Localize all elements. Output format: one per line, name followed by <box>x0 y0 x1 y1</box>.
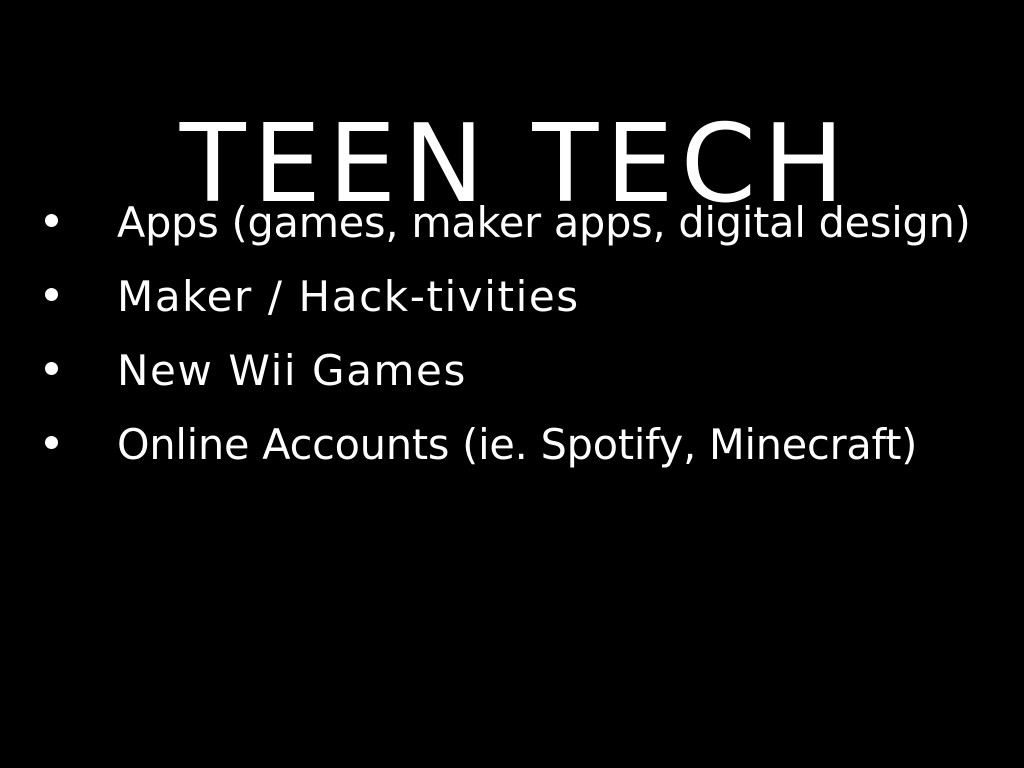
bullet-dot-icon <box>45 436 58 449</box>
list-item-label: New Wii Games <box>117 336 467 410</box>
list-item-label: Apps (games, maker apps, digital design) <box>117 188 971 262</box>
bullet-list: Apps (games, maker apps, digital design)… <box>0 188 1024 484</box>
presentation-slide: TEEN TECH Apps (games, maker apps, digit… <box>0 0 1024 768</box>
bullet-dot-icon <box>45 362 58 375</box>
bullet-dot-icon <box>45 288 58 301</box>
list-item: New Wii Games <box>0 336 1024 410</box>
list-item: Online Accounts (ie. Spotify, Minecraft) <box>0 410 1024 484</box>
list-item-label: Maker / Hack-tivities <box>117 262 580 336</box>
bullet-dot-icon <box>45 214 58 227</box>
list-item: Apps (games, maker apps, digital design) <box>0 188 1024 262</box>
list-item: Maker / Hack-tivities <box>0 262 1024 336</box>
list-item-label: Online Accounts (ie. Spotify, Minecraft) <box>117 410 917 484</box>
